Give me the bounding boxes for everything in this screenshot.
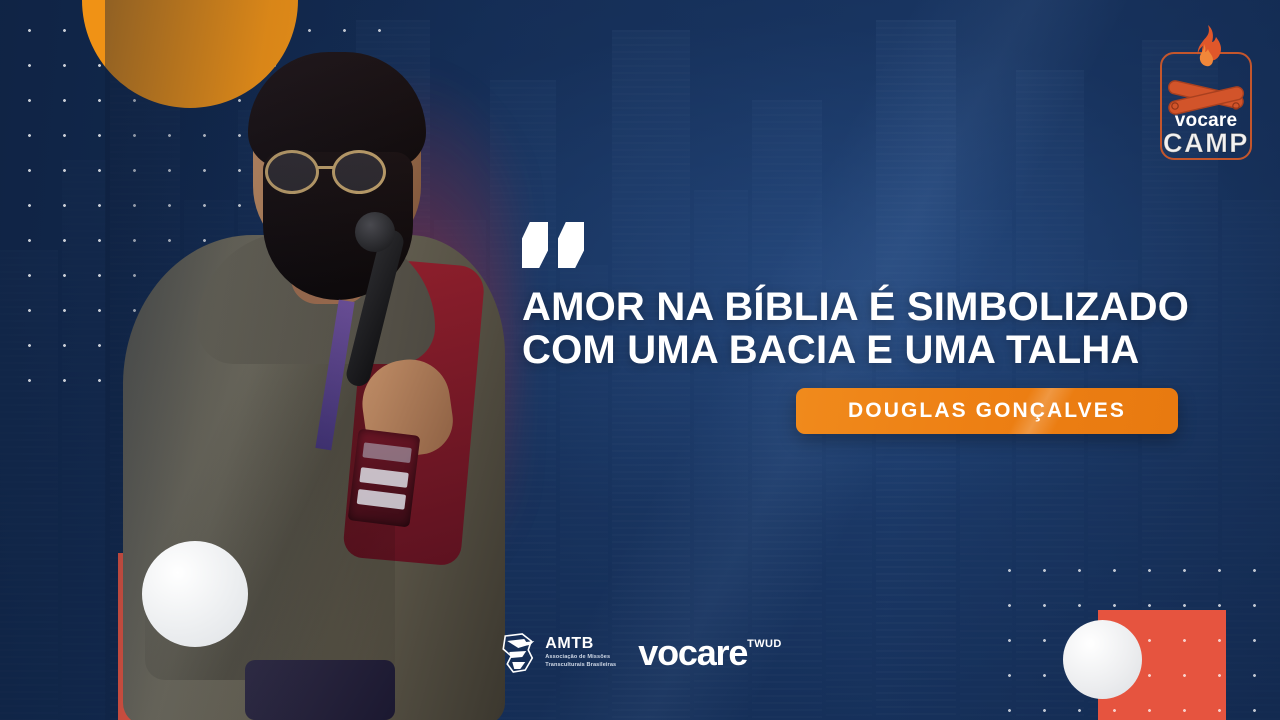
white-circle-bottom-left [142,541,248,647]
quote-line-1: AMOR NA BÍBLIA É SIMBOLIZADO [522,286,1202,329]
speaker-glasses-right-lens [332,150,386,194]
speaker-glasses-left-lens [265,150,319,194]
dot-grid-bottom-right [980,540,1280,720]
microphone-head [355,212,395,252]
conference-badge [348,429,421,528]
quote-block: AMOR NA BÍBLIA É SIMBOLIZADO COM UMA BAC… [522,222,1202,372]
footer-logo-bar: AMTB Associação de Missões Transculturai… [498,632,782,674]
amtb-text-lockup: AMTB Associação de Missões Transculturai… [545,636,616,669]
slide-canvas: AMOR NA BÍBLIA É SIMBOLIZADO COM UMA BAC… [0,0,1280,720]
amtb-subtitle-line-2: Transculturais Brasileiras [545,662,616,670]
brazil-map-icon [498,632,538,674]
quotation-mark-icon [522,222,1202,268]
vocare-wordmark: vocare [638,635,747,671]
vocare-camp-logo: vocare CAMP [1152,22,1260,172]
speaker-name-badge: DOUGLAS GONÇALVES [796,388,1178,434]
speaker-glasses-bridge [318,166,334,169]
quote-line-2: COM UMA BACIA E UMA TALHA [522,329,1202,372]
amtb-name: AMTB [545,636,616,652]
amtb-subtitle-line-1: Associação de Missões [545,654,616,662]
amtb-subtitle: Associação de Missões Transculturais Bra… [545,654,616,669]
speaker-name-label: DOUGLAS GONÇALVES [848,399,1126,423]
speaker-waist [245,660,395,720]
amtb-logo: AMTB Associação de Missões Transculturai… [498,632,616,674]
white-circle-bottom-right [1063,620,1142,699]
vocare-superscript: TWUD [747,638,782,650]
vocare-logo: vocare TWUD [638,635,781,671]
camp-logo-title: CAMP [1152,128,1260,159]
